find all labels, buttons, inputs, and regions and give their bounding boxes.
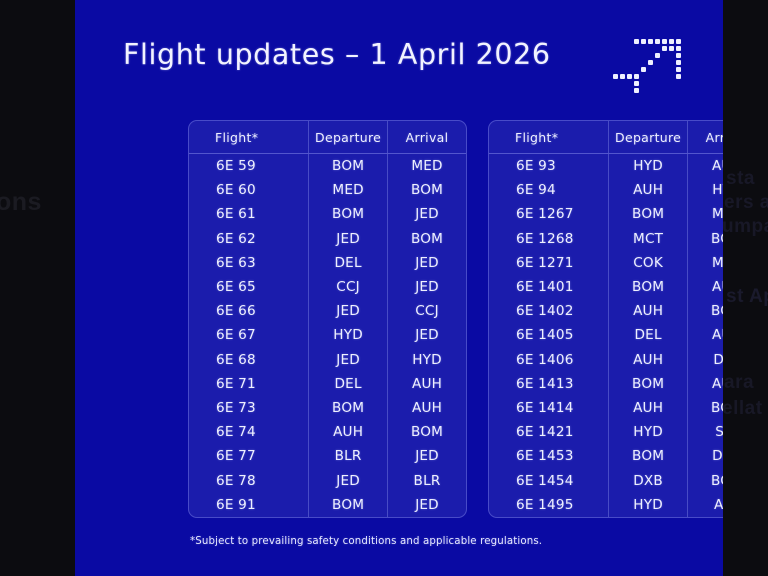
cell-departure: BOM	[309, 493, 388, 517]
table-row: 6E 61BOMJED	[189, 202, 466, 226]
table-header-right: Flight* Departure Arrival	[489, 121, 723, 154]
cell-departure: JED	[309, 348, 388, 372]
cell-arrival: BOM	[388, 227, 466, 251]
table-row: 6E 59BOMMED	[189, 154, 466, 179]
cell-arrival: AUH	[688, 323, 723, 347]
cell-flight: 6E 73	[189, 396, 309, 420]
cell-arrival: AUH	[688, 154, 723, 179]
logo-dot	[669, 46, 674, 51]
cell-arrival: MCT	[688, 251, 723, 275]
cell-arrival: MCT	[688, 202, 723, 226]
table-row: 6E 63DELJED	[189, 251, 466, 275]
background-text-fragment-right-3: umpa	[722, 216, 768, 238]
cell-departure: BOM	[609, 372, 688, 396]
background-text-fragment-right-6: ellat	[722, 398, 763, 420]
cell-arrival: BLR	[388, 468, 466, 492]
cell-arrival: DEL	[688, 348, 723, 372]
cell-departure: HYD	[309, 323, 388, 347]
cell-departure: BOM	[609, 275, 688, 299]
cell-flight: 6E 67	[189, 323, 309, 347]
table-row: 6E 1454DXBBOM	[489, 468, 723, 492]
table-row: 6E 73BOMAUH	[189, 396, 466, 420]
cell-departure: DEL	[309, 372, 388, 396]
cell-flight: 6E 94	[489, 178, 609, 202]
logo-dot	[676, 60, 681, 65]
screenshot-canvas: ons sta ers a umpa st Ap ara ellat Fligh…	[0, 0, 768, 576]
cell-arrival: CCJ	[388, 299, 466, 323]
table-row: 6E 1453BOMDXB	[489, 444, 723, 468]
footnote-disclaimer: *Subject to prevailing safety conditions…	[190, 536, 542, 547]
logo-dot	[634, 88, 639, 93]
logo-dot	[676, 53, 681, 58]
cell-flight: 6E 61	[189, 202, 309, 226]
table-row: 6E 71DELAUH	[189, 372, 466, 396]
logo-dot	[655, 39, 660, 44]
cell-departure: AUH	[609, 299, 688, 323]
cell-departure: JED	[309, 468, 388, 492]
table-row: 6E 62JEDBOM	[189, 227, 466, 251]
table-row: 6E 60MEDBOM	[189, 178, 466, 202]
cell-arrival: JED	[388, 251, 466, 275]
table-row: 6E 1401BOMAUH	[489, 275, 723, 299]
logo-dot	[634, 39, 639, 44]
logo-dot	[662, 46, 667, 51]
table-row: 6E 1267BOMMCT	[489, 202, 723, 226]
cell-departure: HYD	[609, 493, 688, 517]
table-row: 6E 1406AUHDEL	[489, 348, 723, 372]
table-row: 6E 1405DELAUH	[489, 323, 723, 347]
background-text-fragment-right-5: ara	[724, 372, 754, 394]
table-row: 6E 67HYDJED	[189, 323, 466, 347]
cell-flight: 6E 63	[189, 251, 309, 275]
page-title: Flight updates – 1 April 2026	[123, 38, 551, 71]
table-row: 6E 94AUHHYD	[489, 178, 723, 202]
table-row: 6E 74AUHBOM	[189, 420, 466, 444]
cell-flight: 6E 1454	[489, 468, 609, 492]
table-header-left: Flight* Departure Arrival	[189, 121, 466, 154]
logo-dot	[655, 53, 660, 58]
column-header-departure: Departure	[309, 121, 388, 154]
table-row: 6E 68JEDHYD	[189, 348, 466, 372]
cell-flight: 6E 66	[189, 299, 309, 323]
table-body-right: 6E 93HYDAUH6E 94AUHHYD6E 1267BOMMCT6E 12…	[489, 154, 723, 518]
cell-departure: DEL	[309, 251, 388, 275]
logo-dot	[634, 74, 639, 79]
cell-departure: HYD	[609, 420, 688, 444]
cell-flight: 6E 1421	[489, 420, 609, 444]
flight-table-right: Flight* Departure Arrival 6E 93HYDAUH6E …	[488, 120, 723, 518]
logo-dot	[676, 67, 681, 72]
cell-arrival: HYD	[688, 178, 723, 202]
cell-departure: CCJ	[309, 275, 388, 299]
cell-flight: 6E 1495	[489, 493, 609, 517]
cell-arrival: JED	[388, 493, 466, 517]
cell-flight: 6E 59	[189, 154, 309, 179]
cell-flight: 6E 77	[189, 444, 309, 468]
cell-flight: 6E 1453	[489, 444, 609, 468]
flight-table-left-grid: Flight* Departure Arrival 6E 59BOMMED6E …	[189, 121, 466, 517]
cell-flight: 6E 60	[189, 178, 309, 202]
logo-dot	[620, 74, 625, 79]
cell-departure: JED	[309, 299, 388, 323]
column-header-flight: Flight*	[189, 121, 309, 154]
flight-table-left: Flight* Departure Arrival 6E 59BOMMED6E …	[188, 120, 467, 518]
logo-dot	[669, 39, 674, 44]
cell-flight: 6E 1402	[489, 299, 609, 323]
background-text-fragment-left: ons	[0, 188, 42, 217]
cell-departure: AUH	[609, 348, 688, 372]
cell-arrival: BOM	[688, 227, 723, 251]
table-row: 6E 65CCJJED	[189, 275, 466, 299]
table-row: 6E 91BOMJED	[189, 493, 466, 517]
cell-arrival: BOM	[388, 178, 466, 202]
cell-departure: AUH	[309, 420, 388, 444]
cell-departure: JED	[309, 227, 388, 251]
cell-flight: 6E 1413	[489, 372, 609, 396]
cell-departure: COK	[609, 251, 688, 275]
cell-flight: 6E 1267	[489, 202, 609, 226]
cell-departure: MCT	[609, 227, 688, 251]
cell-flight: 6E 65	[189, 275, 309, 299]
cell-departure: MED	[309, 178, 388, 202]
cell-departure: BOM	[609, 202, 688, 226]
cell-arrival: BOM	[388, 420, 466, 444]
cell-departure: AUH	[609, 396, 688, 420]
cell-arrival: AKT	[688, 493, 723, 517]
logo-dot	[648, 39, 653, 44]
indigo-dotted-plane-logo	[613, 32, 685, 96]
table-row: 6E 1268MCTBOM	[489, 227, 723, 251]
cell-arrival: JED	[388, 323, 466, 347]
table-row: 6E 1421HYDSHJ	[489, 420, 723, 444]
cell-departure: BOM	[309, 154, 388, 179]
logo-dot	[676, 39, 681, 44]
column-header-arrival: Arrival	[688, 121, 723, 154]
cell-arrival: JED	[388, 275, 466, 299]
cell-departure: HYD	[609, 154, 688, 179]
cell-arrival: HYD	[388, 348, 466, 372]
table-header-row: Flight* Departure Arrival	[189, 121, 466, 154]
cell-flight: 6E 1405	[489, 323, 609, 347]
cell-arrival: BOM	[688, 396, 723, 420]
cell-flight: 6E 93	[489, 154, 609, 179]
cell-flight: 6E 1271	[489, 251, 609, 275]
cell-flight: 6E 1401	[489, 275, 609, 299]
cell-flight: 6E 1268	[489, 227, 609, 251]
cell-arrival: DXB	[688, 444, 723, 468]
cell-departure: BLR	[309, 444, 388, 468]
table-row: 6E 1413BOMAUH	[489, 372, 723, 396]
table-row: 6E 78JEDBLR	[189, 468, 466, 492]
cell-departure: AUH	[609, 178, 688, 202]
cell-arrival: AUH	[688, 372, 723, 396]
logo-dot	[641, 67, 646, 72]
cell-arrival: MED	[388, 154, 466, 179]
table-row: 6E 1402AUHBOM	[489, 299, 723, 323]
table-row: 6E 66JEDCCJ	[189, 299, 466, 323]
logo-dot	[676, 46, 681, 51]
column-header-arrival: Arrival	[388, 121, 466, 154]
cell-flight: 6E 91	[189, 493, 309, 517]
table-row: 6E 93HYDAUH	[489, 154, 723, 179]
table-header-row: Flight* Departure Arrival	[489, 121, 723, 154]
cell-arrival: AUH	[388, 372, 466, 396]
cell-arrival: BOM	[688, 468, 723, 492]
presentation-slide: Flight updates – 1 April 2026 Flight* De…	[75, 0, 723, 576]
table-row: 6E 1414AUHBOM	[489, 396, 723, 420]
table-row: 6E 1495HYDAKT	[489, 493, 723, 517]
cell-departure: BOM	[609, 444, 688, 468]
cell-arrival: AUH	[388, 396, 466, 420]
column-header-flight: Flight*	[489, 121, 609, 154]
logo-dot	[627, 74, 632, 79]
logo-dot	[613, 74, 618, 79]
logo-dot	[641, 39, 646, 44]
cell-arrival: BOM	[688, 299, 723, 323]
slide-header: Flight updates – 1 April 2026	[123, 38, 693, 96]
cell-flight: 6E 74	[189, 420, 309, 444]
cell-arrival: SHJ	[688, 420, 723, 444]
flight-table-right-grid: Flight* Departure Arrival 6E 93HYDAUH6E …	[489, 121, 723, 517]
cell-departure: BOM	[309, 396, 388, 420]
logo-dot	[676, 74, 681, 79]
background-text-fragment-right-2: ers a	[724, 192, 768, 214]
table-row: 6E 77BLRJED	[189, 444, 466, 468]
cell-flight: 6E 1406	[489, 348, 609, 372]
cell-flight: 6E 71	[189, 372, 309, 396]
cell-flight: 6E 78	[189, 468, 309, 492]
logo-dot	[662, 39, 667, 44]
cell-flight: 6E 62	[189, 227, 309, 251]
column-header-departure: Departure	[609, 121, 688, 154]
cell-flight: 6E 68	[189, 348, 309, 372]
table-body-left: 6E 59BOMMED6E 60MEDBOM6E 61BOMJED6E 62JE…	[189, 154, 466, 518]
cell-departure: DXB	[609, 468, 688, 492]
cell-flight: 6E 1414	[489, 396, 609, 420]
background-text-fragment-right-1: sta	[726, 168, 755, 190]
cell-arrival: AUH	[688, 275, 723, 299]
logo-dot	[634, 81, 639, 86]
logo-dot	[648, 60, 653, 65]
cell-departure: BOM	[309, 202, 388, 226]
cell-arrival: JED	[388, 202, 466, 226]
background-text-fragment-right-4: st Ap	[726, 286, 768, 308]
cell-departure: DEL	[609, 323, 688, 347]
table-row: 6E 1271COKMCT	[489, 251, 723, 275]
cell-arrival: JED	[388, 444, 466, 468]
